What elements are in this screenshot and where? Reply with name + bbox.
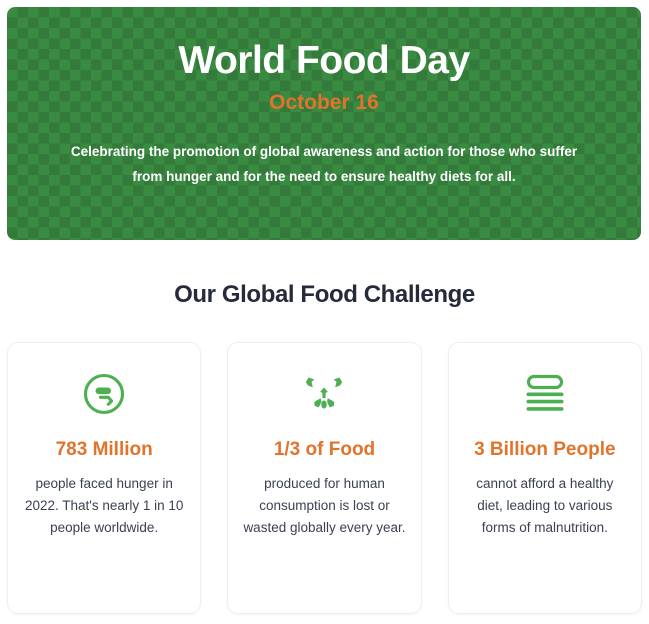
stat-card-grid: 783 Million people faced hunger in 2022.… (7, 342, 642, 614)
page-title: World Food Day (178, 41, 469, 82)
stacked-plate-icon (520, 369, 570, 419)
section-heading: Our Global Food Challenge (0, 281, 649, 309)
stat-card-food-waste[interactable]: 1/3 of Food produced for human consumpti… (227, 342, 421, 614)
scattered-waste-icon (299, 369, 349, 419)
stat-description: produced for human consumption is lost o… (242, 473, 406, 539)
stat-description: cannot afford a healthy diet, leading to… (463, 473, 627, 539)
stat-card-hunger[interactable]: 783 Million people faced hunger in 2022.… (7, 342, 201, 614)
stat-description: people faced hunger in 2022. That's near… (22, 473, 186, 539)
hero-subtitle: Celebrating the promotion of global awar… (66, 140, 582, 190)
stat-card-unaffordable-diet[interactable]: 3 Billion People cannot afford a healthy… (448, 342, 642, 614)
event-date: October 16 (269, 91, 379, 115)
hero-banner: World Food Day October 16 Celebrating th… (7, 7, 641, 240)
stat-value: 1/3 of Food (274, 437, 375, 462)
empty-bowl-circle-icon (79, 369, 129, 419)
stat-value: 3 Billion People (474, 437, 615, 462)
stat-value: 783 Million (56, 437, 153, 462)
world-food-day-page: World Food Day October 16 Celebrating th… (0, 0, 649, 624)
